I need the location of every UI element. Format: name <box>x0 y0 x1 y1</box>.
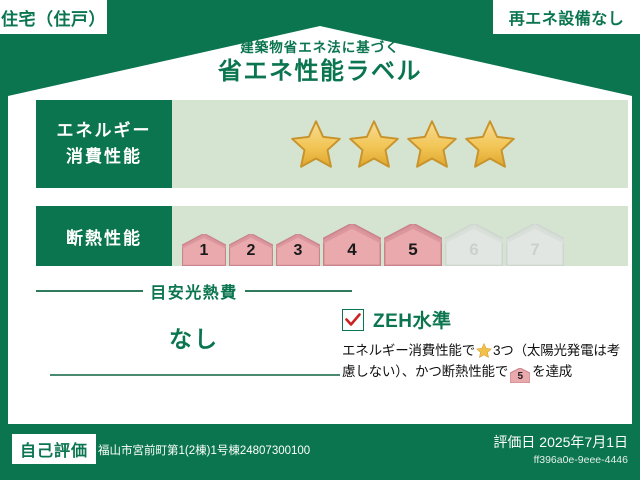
insulation-badge-value: 3 <box>294 242 303 266</box>
insulation-badge-inline-value: 5 <box>517 371 522 382</box>
utility-cost-value: なし <box>36 320 352 354</box>
insulation-badge-value: 1 <box>200 242 209 266</box>
insulation-badge: 7 <box>506 224 564 266</box>
insulation-badge-value: 7 <box>530 240 539 266</box>
panel-inner: エネルギー 消費性能 断熱性能 1234567 目安光熱費 なし <box>14 28 626 410</box>
star-icon <box>348 119 400 169</box>
rule-right <box>245 290 352 292</box>
energy-label-line2: 消費性能 <box>66 144 142 170</box>
insulation-badge-value: 5 <box>408 240 417 266</box>
star-icon <box>464 119 516 169</box>
insulation-badge-inline: 5 <box>510 368 530 383</box>
insulation-performance-label-head: 断熱性能 <box>36 206 172 266</box>
insulation-badge-value: 6 <box>469 240 478 266</box>
utility-cost-heading: 目安光熱費 <box>36 280 352 302</box>
insulation-badge: 1 <box>182 234 226 266</box>
evaluation-date: 評価日 2025年7月1日 <box>493 432 628 452</box>
zeh-description: エネルギー消費性能で3つ（太陽光発電は考慮しない）、かつ断熱性能で5を達成 <box>342 340 626 383</box>
utility-cost-title: 目安光熱費 <box>150 279 238 303</box>
self-evaluation-tag: 自己評価 <box>12 434 96 464</box>
insulation-badge-value: 2 <box>247 242 256 266</box>
checkbox-checked-icon <box>342 309 364 331</box>
energy-performance-label: 住宅（住戸） 再エネ設備なし 建築物省エネ法に基づく 省エネ性能ラベル エネルギ… <box>0 0 640 480</box>
energy-performance-row: エネルギー 消費性能 <box>36 100 628 188</box>
insulation-badge-value: 4 <box>347 240 356 266</box>
label-footer: 自己評価 福山市宮前町第1(2棟)1号棟24807300100 評価日 2025… <box>0 424 640 480</box>
insulation-badge: 6 <box>445 224 503 266</box>
star-icon <box>290 119 342 169</box>
insulation-performance-row: 断熱性能 1234567 <box>36 206 628 266</box>
insulation-label: 断熱性能 <box>66 224 142 249</box>
energy-label-line1: エネルギー <box>57 118 152 144</box>
zeh-standard-block: ZEH水準 エネルギー消費性能で3つ（太陽光発電は考慮しない）、かつ断熱性能で5… <box>342 306 626 383</box>
insulation-badge: 5 <box>384 224 442 266</box>
star-icon-inline <box>476 343 492 358</box>
energy-performance-label-head: エネルギー 消費性能 <box>36 100 172 188</box>
insulation-badge: 4 <box>323 224 381 266</box>
insulation-grade-scale: 1234567 <box>172 206 628 266</box>
zeh-desc-part1: エネルギー消費性能で <box>342 343 475 358</box>
zeh-desc-part3: を達成 <box>532 364 572 379</box>
insulation-badge: 2 <box>229 234 273 266</box>
star-icon <box>406 119 458 169</box>
zeh-title-row: ZEH水準 <box>342 306 626 333</box>
zeh-title: ZEH水準 <box>373 306 452 333</box>
property-address: 福山市宮前町第1(2棟)1号棟24807300100 <box>98 442 310 458</box>
document-hash: ff396a0e-9eee-4446 <box>534 454 628 466</box>
utility-cost-underline <box>50 374 340 376</box>
rule-left <box>36 290 143 292</box>
insulation-badge: 3 <box>276 234 320 266</box>
star-rating <box>172 100 628 188</box>
